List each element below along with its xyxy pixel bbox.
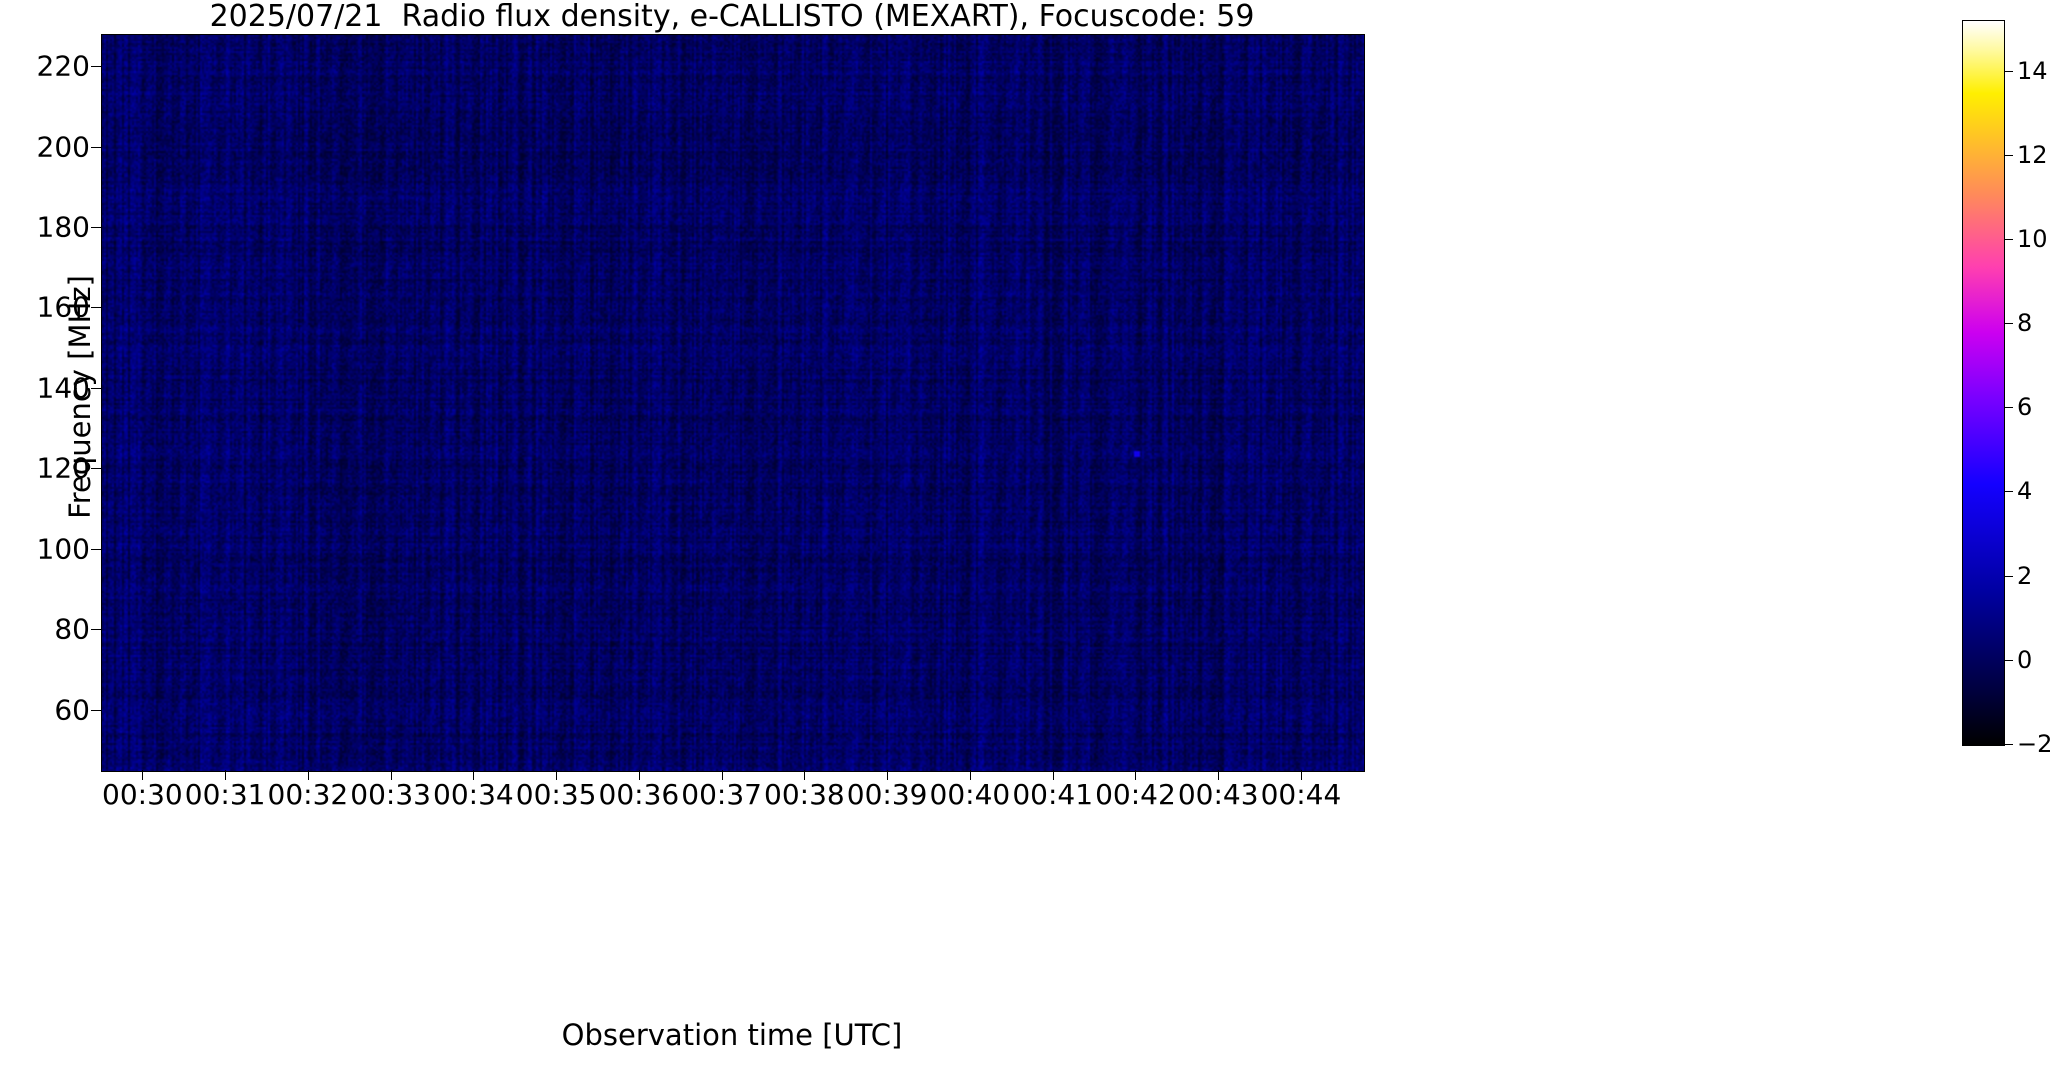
- y-tick-label: 60: [0, 693, 90, 726]
- y-tick-mark: [91, 468, 101, 469]
- y-tick-mark: [91, 307, 101, 308]
- spectrogram-image: [102, 35, 1364, 771]
- y-tick-mark: [91, 227, 101, 228]
- colorbar-tick-mark: [2004, 71, 2013, 72]
- y-tick-label: 80: [0, 613, 90, 646]
- colorbar-tick-mark: [2004, 155, 2013, 156]
- y-tick-mark: [91, 388, 101, 389]
- colorbar-tick-label: 12: [2017, 141, 2048, 169]
- y-tick-mark: [91, 147, 101, 148]
- y-tick-mark: [91, 710, 101, 711]
- y-tick-label: 180: [0, 211, 90, 244]
- figure-canvas: 2025/07/21 Radio flux density, e-CALLIST…: [0, 0, 2066, 1067]
- y-tick-label: 120: [0, 452, 90, 485]
- x-tick-label: 00:44: [1221, 778, 1381, 811]
- colorbar-tick-label: −2: [2017, 730, 2052, 758]
- x-axis-label: Observation time [UTC]: [101, 1018, 1363, 1052]
- colorbar-tick-mark: [2004, 239, 2013, 240]
- colorbar-tick-mark: [2004, 491, 2013, 492]
- colorbar-tick-label: 4: [2017, 477, 2032, 505]
- colorbar-tick-label: 6: [2017, 393, 2032, 421]
- colorbar-tick-label: 8: [2017, 309, 2032, 337]
- colorbar-tick-mark: [2004, 744, 2013, 745]
- y-tick-mark: [91, 629, 101, 630]
- spectrogram-axes[interactable]: [101, 34, 1365, 772]
- y-tick-label: 200: [0, 130, 90, 163]
- y-tick-mark: [91, 66, 101, 67]
- colorbar-gradient: [1963, 21, 2004, 745]
- colorbar-tick-mark: [2004, 407, 2013, 408]
- colorbar-tick-label: 10: [2017, 225, 2048, 253]
- colorbar-tick-label: 14: [2017, 57, 2048, 85]
- y-tick-label: 220: [0, 50, 90, 83]
- y-tick-label: 160: [0, 291, 90, 324]
- y-tick-label: 140: [0, 371, 90, 404]
- colorbar[interactable]: [1962, 20, 2005, 746]
- y-tick-mark: [91, 549, 101, 550]
- colorbar-tick-label: 2: [2017, 562, 2032, 590]
- colorbar-tick-mark: [2004, 576, 2013, 577]
- colorbar-tick-label: 0: [2017, 646, 2032, 674]
- colorbar-tick-mark: [2004, 660, 2013, 661]
- page-title: 2025/07/21 Radio flux density, e-CALLIST…: [101, 0, 1363, 34]
- colorbar-tick-mark: [2004, 323, 2013, 324]
- y-tick-label: 100: [0, 532, 90, 565]
